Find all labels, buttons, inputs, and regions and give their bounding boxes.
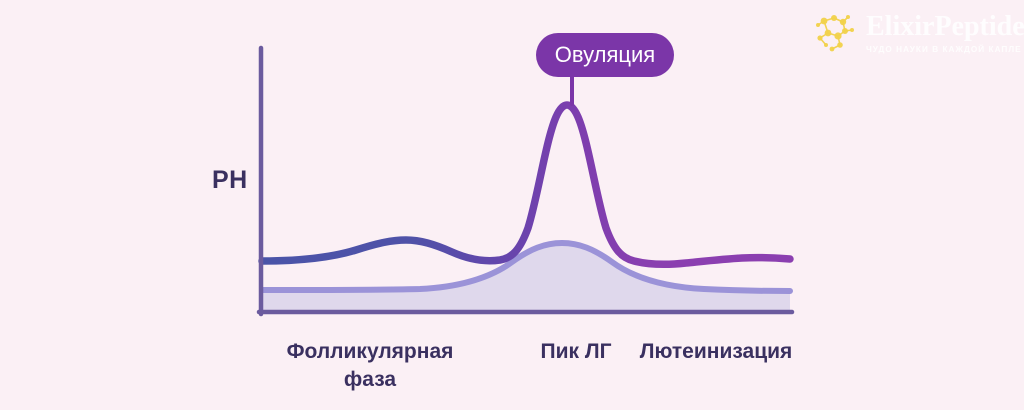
x-axis-label-follicular-phase: Фолликулярная фаза — [258, 338, 482, 393]
molecule-icon — [812, 9, 860, 57]
hormone-curve-chart — [0, 0, 1024, 410]
logo-wordmark: ElixirPeptide — [866, 13, 1024, 41]
x-axis-label-luteinization: Лютеинизация — [632, 338, 800, 366]
x-axis-label-lh-peak: Пик ЛГ — [521, 338, 631, 366]
y-axis-label: PH — [212, 168, 248, 193]
chart-canvas: PH Овуляция Фолликулярная фаза Пик ЛГ Лю… — [0, 0, 1024, 410]
ovulation-badge-label: Овуляция — [555, 44, 655, 66]
brand-logo: ElixirPeptide ЧУДО НАУКИ В КАЖДОЙ КАПЛЕ — [812, 6, 1018, 60]
ovulation-badge[interactable]: Овуляция — [536, 33, 674, 77]
logo-tagline: ЧУДО НАУКИ В КАЖДОЙ КАПЛЕ — [866, 46, 1024, 54]
main-series-line — [262, 105, 790, 264]
